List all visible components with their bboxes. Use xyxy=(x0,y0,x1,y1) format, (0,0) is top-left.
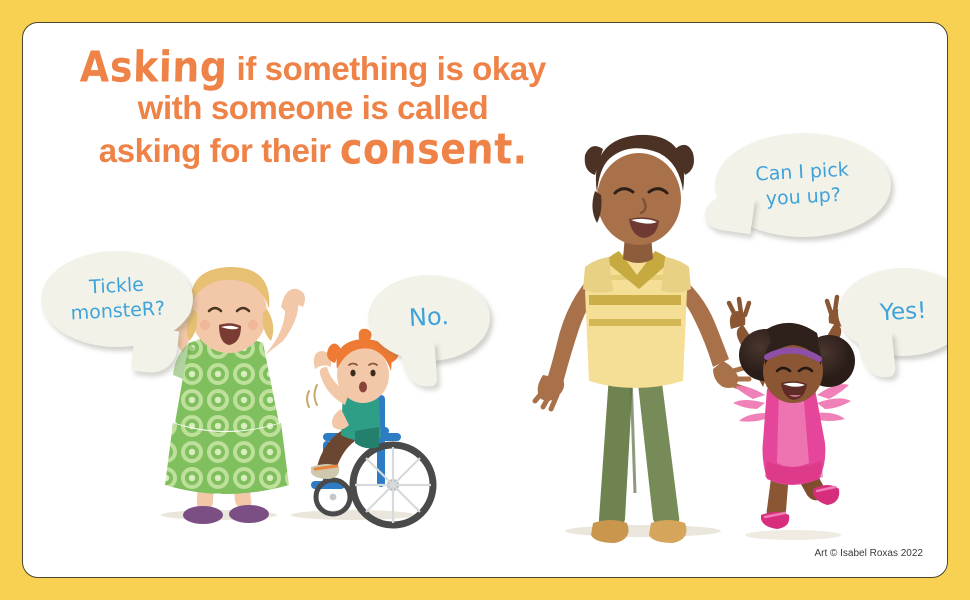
headline-line-3-rest: asking for their xyxy=(99,132,340,169)
poster-root: Asking if something is okay with someone… xyxy=(0,0,970,600)
speech-bubble-tickle-monster-text: Tickle monsteR? xyxy=(69,271,166,326)
shoe xyxy=(591,520,629,543)
ground-shadow xyxy=(291,510,415,520)
poster-card: Asking if something is okay with someone… xyxy=(22,22,948,578)
artist-credit: Art © Isabel Roxas 2022 xyxy=(814,548,923,559)
page-title: Asking if something is okay with someone… xyxy=(63,45,563,171)
shoe xyxy=(649,520,687,543)
speech-bubble-no-text: No. xyxy=(408,301,449,335)
headline-line-3: asking for their consent. xyxy=(63,127,563,171)
shoe xyxy=(229,505,269,523)
headline-accent-consent: consent. xyxy=(339,125,528,174)
speech-bubble-yes-text: Yes! xyxy=(879,296,927,329)
headline-line-1: Asking if something is okay xyxy=(63,45,563,89)
character-girl xyxy=(729,297,855,529)
speech-bubble-tickle-monster: Tickle monsteR? xyxy=(41,251,193,347)
speech-bubble-no: No. xyxy=(368,275,490,361)
headline-accent-asking: Asking xyxy=(80,42,229,91)
ground-shadow xyxy=(565,525,721,537)
speech-bubble-can-i-pick-you-up: Can I pick you up? xyxy=(715,133,891,237)
headline-line-2: with someone is called xyxy=(63,89,563,127)
ground-shadow xyxy=(745,530,841,540)
headline-line-1-rest: if something is okay xyxy=(228,50,546,87)
speech-bubble-can-i-pick-you-up-text: Can I pick you up? xyxy=(755,158,851,213)
shoe xyxy=(183,506,223,524)
